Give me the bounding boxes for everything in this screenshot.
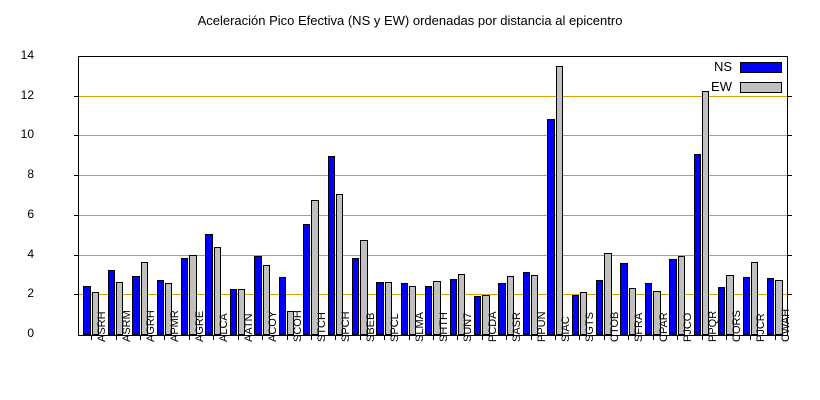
bar-group (201, 57, 225, 335)
bar-group (274, 57, 298, 335)
bar-group (372, 57, 396, 335)
x-axis-tick (555, 335, 556, 340)
bar-group (323, 57, 347, 335)
x-axis-tick (750, 335, 751, 340)
x-axis-tick-label: CPAR (658, 312, 670, 342)
x-axis-tick (409, 335, 410, 340)
x-axis-tick-label: SCOH (292, 310, 304, 342)
bar-ns[interactable] (279, 277, 286, 335)
bar-group (250, 57, 274, 335)
bar-ns[interactable] (83, 286, 90, 335)
x-axis-tick-label: AGRH (145, 310, 157, 342)
x-axis-tick (140, 335, 141, 340)
x-axis-tick (335, 335, 336, 340)
x-axis-tick (189, 335, 190, 340)
x-axis-tick-label: SLMA (414, 312, 426, 342)
bar-group (79, 57, 103, 335)
x-axis-tick (482, 335, 483, 340)
x-axis-tick (702, 335, 703, 340)
bar-ns[interactable] (352, 258, 359, 335)
x-axis-tick (628, 335, 629, 340)
x-axis-tick (653, 335, 654, 340)
x-axis-tick (604, 335, 605, 340)
legend-entry-ew: EW (676, 78, 784, 96)
x-axis-tick-label: PCDA (487, 311, 499, 342)
x-axis-tick-label: SHTH (438, 312, 450, 342)
y-axis-tick (787, 175, 792, 176)
bar-group (494, 57, 518, 335)
x-axis-tick-label: SASR (511, 312, 523, 342)
bar-group (518, 57, 542, 335)
legend-label-ns: NS (676, 58, 732, 76)
bar-ns[interactable] (157, 280, 164, 335)
bar-ns[interactable] (694, 154, 701, 335)
x-axis-tick (91, 335, 92, 340)
bar-ns[interactable] (547, 119, 554, 335)
bar-group (421, 57, 445, 335)
legend-label-ew: EW (676, 78, 732, 96)
x-axis-tick-label: SBEB (365, 313, 377, 342)
y-axis-tick-label: 14 (0, 49, 34, 61)
bar-ns[interactable] (620, 263, 627, 335)
bar-ns[interactable] (303, 224, 310, 335)
bar-ns[interactable] (205, 234, 212, 335)
x-axis-tick (311, 335, 312, 340)
x-axis-tick (164, 335, 165, 340)
x-axis-tick (531, 335, 532, 340)
x-axis-tick-labels: ASRHASRMAGRHAPMRAGREALCAAATNACOYSCOHSTCH… (79, 340, 787, 398)
x-axis-tick-label: ASRH (96, 311, 108, 342)
bar-ew[interactable] (702, 91, 709, 335)
bar-group (103, 57, 127, 335)
bar-group (567, 57, 591, 335)
bar-ns[interactable] (596, 280, 603, 335)
x-axis-tick (677, 335, 678, 340)
legend-swatch-ew (740, 82, 782, 93)
bar-ns[interactable] (108, 270, 115, 335)
y-axis-tick (787, 96, 792, 97)
x-axis-tick (579, 335, 580, 340)
x-axis-tick-label: ASRM (121, 310, 133, 342)
bar-group (348, 57, 372, 335)
chart-canvas: Aceleración Pico Efectiva (NS y EW) orde… (0, 0, 820, 400)
bar-group (177, 57, 201, 335)
x-axis-tick-label: AATN (243, 313, 255, 342)
x-axis-tick-label: AGRE (194, 311, 206, 342)
bar-group (396, 57, 420, 335)
x-axis-tick (726, 335, 727, 340)
x-axis-tick (384, 335, 385, 340)
bar-ns[interactable] (181, 258, 188, 335)
bar-group (543, 57, 567, 335)
x-axis-tick-label: SFRA (633, 313, 645, 342)
bar-group (592, 57, 616, 335)
x-axis-tick-label: PPUN (536, 311, 548, 342)
y-axis-tick-label: 10 (0, 128, 34, 140)
chart-title: Aceleración Pico Efectiva (NS y EW) orde… (0, 13, 820, 28)
bar-group (299, 57, 323, 335)
y-axis-tick-label: 4 (0, 248, 34, 260)
x-axis-tick (238, 335, 239, 340)
y-axis-tick-label: 8 (0, 168, 34, 180)
y-axis-tick (787, 135, 792, 136)
bar-ns[interactable] (328, 156, 335, 335)
x-axis-tick-label: CWAH (780, 309, 792, 342)
bar-ns[interactable] (254, 256, 261, 335)
bar-ns[interactable] (498, 283, 505, 335)
bar-ns[interactable] (450, 279, 457, 335)
y-axis-tick-label: 6 (0, 208, 34, 220)
bar-ns[interactable] (767, 278, 774, 335)
legend-entry-ns: NS (676, 58, 784, 76)
bar-ns[interactable] (376, 282, 383, 335)
legend-swatch-ns (740, 62, 782, 73)
bar-group (225, 57, 249, 335)
bar-group (152, 57, 176, 335)
x-axis-tick-label: CORS (731, 310, 743, 342)
bar-group (445, 57, 469, 335)
x-axis-tick (506, 335, 507, 340)
bar-ns[interactable] (474, 296, 481, 335)
bar-group (128, 57, 152, 335)
x-axis-tick-label: SUN7 (462, 313, 474, 342)
y-axis-tick-label: 2 (0, 287, 34, 299)
bar-ns[interactable] (645, 283, 652, 335)
bar-ew[interactable] (556, 66, 563, 335)
x-axis-tick (262, 335, 263, 340)
bar-ns[interactable] (743, 277, 750, 335)
x-axis-tick (775, 335, 776, 340)
x-axis-tick-label: SPCL (389, 313, 401, 342)
bar-ns[interactable] (669, 259, 676, 335)
bar-ns[interactable] (572, 295, 579, 335)
y-axis-tick (787, 294, 792, 295)
x-axis-tick-label: PJCO (682, 313, 694, 342)
x-axis-tick (360, 335, 361, 340)
bar-group (470, 57, 494, 335)
x-axis-tick-label: STCH (316, 312, 328, 342)
bar-ns[interactable] (718, 287, 725, 335)
x-axis-tick-label: APMR (169, 310, 181, 342)
y-axis-tick (787, 215, 792, 216)
bar-group (641, 57, 665, 335)
x-axis-tick (433, 335, 434, 340)
x-axis-tick-label: ALCA (218, 313, 230, 342)
legend: NS EW (676, 58, 784, 102)
x-axis-tick (287, 335, 288, 340)
x-axis-tick-label: ACOY (267, 311, 279, 342)
bar-ns[interactable] (132, 276, 139, 335)
bar-ns[interactable] (523, 272, 530, 335)
bar-ns[interactable] (425, 286, 432, 335)
y-axis-tick-label: 0 (0, 327, 34, 339)
y-axis-tick-label: 12 (0, 89, 34, 101)
x-axis-tick (457, 335, 458, 340)
x-axis-tick-label: CTOB (609, 312, 621, 342)
x-axis-tick-label: PJCR (755, 313, 767, 342)
x-axis-tick-label: PPQR (707, 311, 719, 342)
bar-group (616, 57, 640, 335)
x-axis-tick (116, 335, 117, 340)
x-axis-tick (213, 335, 214, 340)
bar-ns[interactable] (230, 289, 237, 335)
x-axis-tick-label: SPCH (340, 311, 352, 342)
bar-ns[interactable] (401, 283, 408, 335)
y-axis-tick (787, 255, 792, 256)
x-axis-tick-label: SGTS (584, 312, 596, 342)
x-axis-tick-label: SIAC (560, 316, 572, 342)
